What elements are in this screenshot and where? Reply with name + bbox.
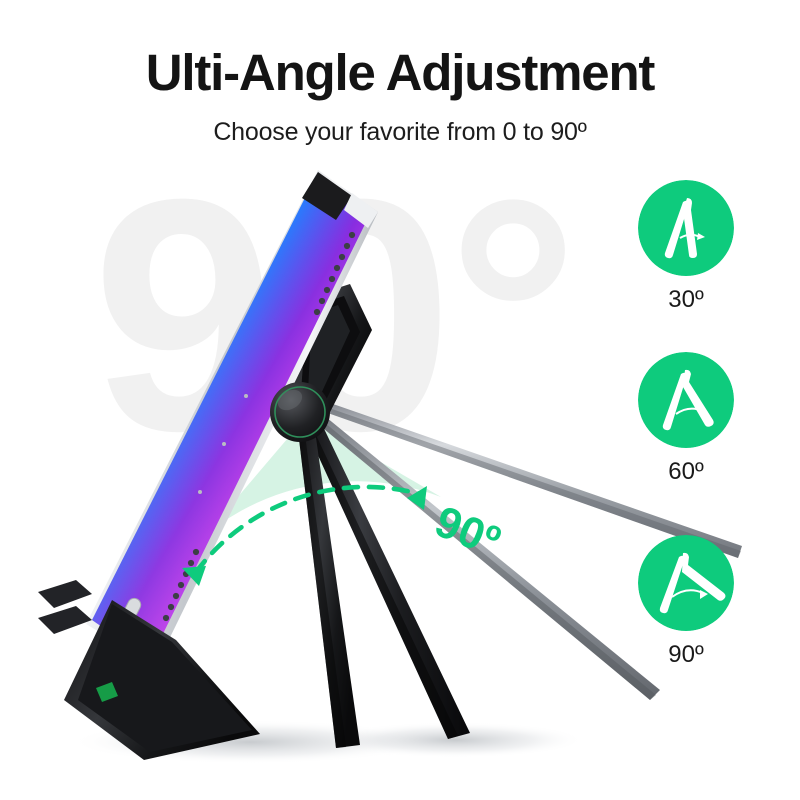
stand-angle-icon [638,180,734,276]
page-subtitle: Choose your favorite from 0 to 90º [0,116,800,148]
angle-badge-label: 30º [638,287,734,313]
angle-badge-60[interactable]: 60º [638,352,738,485]
stand-angle-icon [638,352,734,448]
angle-callout-label: 90º [428,497,507,567]
product-infographic: 90° [0,0,800,800]
page-title: Ulti-Angle Adjustment [0,44,800,102]
angle-badge-30[interactable]: 30º [638,180,738,313]
angle-badge-label: 60º [638,459,734,485]
angle-badge-label: 90º [638,642,734,668]
stand-angle-icon [638,535,734,631]
angle-badge-90[interactable]: 90º [638,535,738,668]
